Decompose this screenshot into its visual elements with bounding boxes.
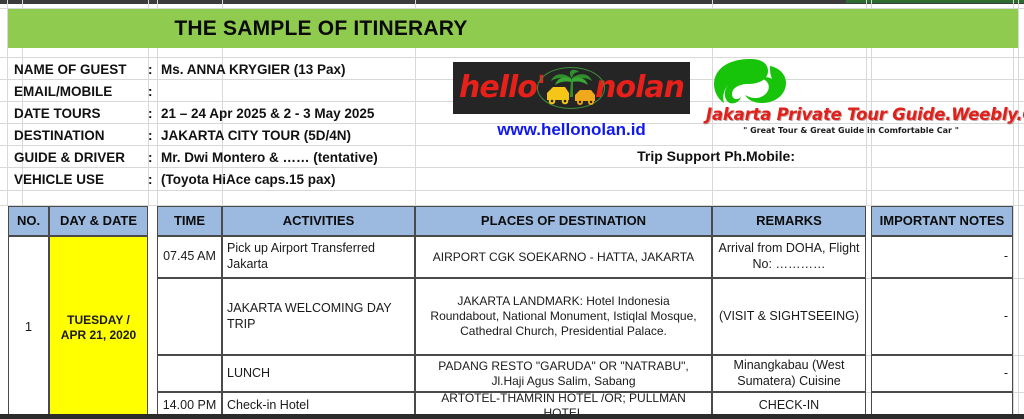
- info-value-date-tours[interactable]: 21 – 24 Apr 2025 & 2 - 3 May 2025: [158, 106, 448, 121]
- table-cell-notes[interactable]: -: [871, 355, 1013, 392]
- column-header-no[interactable]: NO.: [8, 206, 49, 236]
- hello-nolan-logo: hello' nolan: [453, 62, 690, 114]
- info-value-destination[interactable]: JAKARTA CITY TOUR (5D/4N): [158, 128, 448, 143]
- info-row-guide-driver: GUIDE & DRIVER : Mr. Dwi Montero & …… (t…: [8, 146, 448, 168]
- info-row-email-mobile: EMAIL/MOBILE :: [8, 80, 448, 102]
- table-cell-no[interactable]: 1: [8, 236, 49, 419]
- info-label: VEHICLE USE: [8, 172, 148, 187]
- info-colon: :: [148, 172, 158, 187]
- table-cell-remarks[interactable]: Arrival from DOHA, Flight No: …………: [712, 236, 866, 278]
- gridline: [1013, 0, 1014, 419]
- table-cell-day-date[interactable]: TUESDAY / APR 21, 2020: [49, 236, 148, 419]
- hello-nolan-website-link[interactable]: www.hellonolan.id: [453, 119, 690, 141]
- jakarta-private-tour-guide-logo: Jakarta Private Tour Guide.Weebly.Com " …: [706, 58, 996, 144]
- column-header-time[interactable]: TIME: [157, 206, 222, 236]
- info-colon: :: [148, 62, 158, 77]
- table-cell-time[interactable]: 07.45 AM: [157, 236, 222, 278]
- document-title-banner: THE SAMPLE OF ITINERARY: [8, 9, 1018, 48]
- palm-tree-and-cars-icon: [545, 69, 599, 109]
- table-cell-activity[interactable]: LUNCH: [222, 355, 415, 392]
- info-colon: :: [148, 106, 158, 121]
- info-label: DATE TOURS: [8, 106, 148, 121]
- window-bottom-edge: [0, 414, 1024, 419]
- info-label: EMAIL/MOBILE: [8, 84, 148, 99]
- info-value-name-of-guest[interactable]: Ms. ANNA KRYGIER (13 Pax): [158, 62, 448, 77]
- column-header-day-date[interactable]: DAY & DATE: [49, 206, 148, 236]
- info-label: NAME OF GUEST: [8, 62, 148, 77]
- hello-nolan-wordmark-right: nolan: [595, 73, 684, 103]
- info-label: GUIDE & DRIVER: [8, 150, 148, 165]
- info-colon: :: [148, 150, 158, 165]
- hello-nolan-wordmark-left: hello': [459, 73, 545, 103]
- table-cell-place[interactable]: JAKARTA LANDMARK: Hotel Indonesia Rounda…: [415, 278, 712, 355]
- info-row-destination: DESTINATION : JAKARTA CITY TOUR (5D/4N): [8, 124, 448, 146]
- info-value-guide-driver[interactable]: Mr. Dwi Montero & …… (tentative): [158, 150, 448, 165]
- info-row-vehicle-use: VEHICLE USE : (Toyota HiAce caps.15 pax): [8, 168, 448, 190]
- table-cell-time[interactable]: [157, 278, 222, 355]
- spreadsheet-canvas: THE SAMPLE OF ITINERARY NAME OF GUEST : …: [0, 0, 1024, 419]
- table-cell-notes[interactable]: -: [871, 236, 1013, 278]
- column-header-important-notes[interactable]: IMPORTANT NOTES: [871, 206, 1013, 236]
- green-swirl-mark-icon: [710, 58, 788, 106]
- column-header-activities[interactable]: ACTIVITIES: [222, 206, 415, 236]
- guest-info-block: NAME OF GUEST : Ms. ANNA KRYGIER (13 Pax…: [8, 58, 448, 191]
- info-row-date-tours: DATE TOURS : 21 – 24 Apr 2025 & 2 - 3 Ma…: [8, 102, 448, 124]
- table-cell-activity[interactable]: Pick up Airport Transferred Jakarta: [222, 236, 415, 278]
- column-header-remarks[interactable]: REMARKS: [712, 206, 866, 236]
- info-colon: :: [148, 84, 158, 99]
- info-label: DESTINATION: [8, 128, 148, 143]
- table-cell-place[interactable]: PADANG RESTO "GARUDA" OR "NATRABU", Jl.H…: [415, 355, 712, 392]
- table-cell-time[interactable]: [157, 355, 222, 392]
- table-cell-remarks[interactable]: Minangkabau (West Sumatera) Cuisine: [712, 355, 866, 392]
- day-date-line-2: APR 21, 2020: [61, 328, 136, 343]
- table-cell-remarks[interactable]: (VISIT & SIGHTSEEING): [712, 278, 866, 355]
- table-cell-activity[interactable]: JAKARTA WELCOMING DAY TRIP: [222, 278, 415, 355]
- table-cell-notes[interactable]: -: [871, 278, 1013, 355]
- table-cell-place[interactable]: AIRPORT CGK SOEKARNO - HATTA, JAKARTA: [415, 236, 712, 278]
- info-value-vehicle-use[interactable]: (Toyota HiAce caps.15 pax): [158, 172, 448, 187]
- jakarta-guide-wordmark: Jakarta Private Tour Guide.Weebly.Com: [706, 105, 996, 124]
- trip-support-label: Trip Support Ph.Mobile:: [545, 148, 795, 168]
- window-top-edge-accent: [846, 0, 1024, 3]
- gridline: [1018, 0, 1019, 419]
- info-colon: :: [148, 128, 158, 143]
- jakarta-guide-tagline: " Great Tour & Great Guide in Comfortabl…: [706, 126, 996, 135]
- column-header-places[interactable]: PLACES OF DESTINATION: [415, 206, 712, 236]
- page-title: THE SAMPLE OF ITINERARY: [174, 17, 467, 41]
- day-date-line-1: TUESDAY /: [67, 313, 130, 328]
- info-row-name-of-guest: NAME OF GUEST : Ms. ANNA KRYGIER (13 Pax…: [8, 58, 448, 80]
